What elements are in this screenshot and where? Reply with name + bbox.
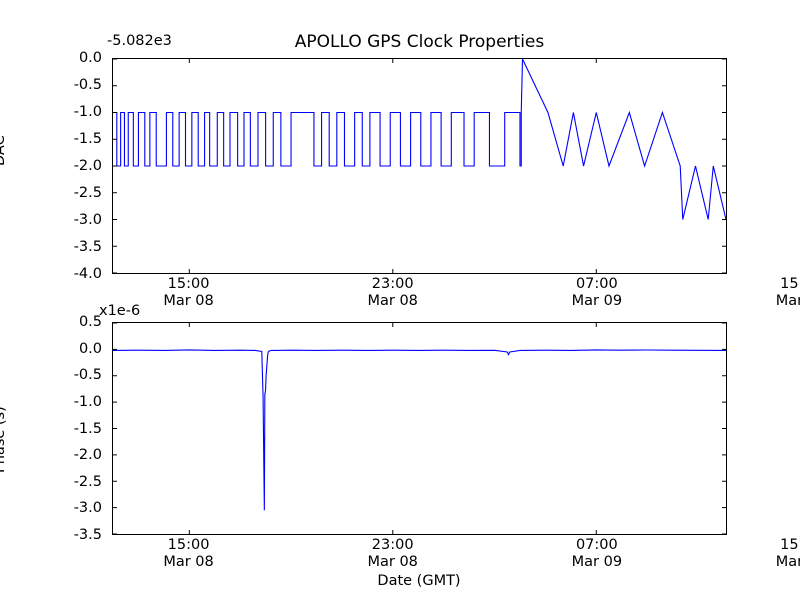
x-tick-time: 07:00 <box>572 276 622 293</box>
figure-canvas: APOLLO GPS Clock Properties -5.082e3 x1e… <box>0 0 800 600</box>
y-tick-label: 0.5 <box>79 314 108 330</box>
x-tick-time: 15:00 <box>163 537 213 554</box>
x-tick-date: Mar 09 <box>572 293 622 310</box>
y-tick-label: -2.0 <box>74 447 108 463</box>
dac-y-tick-labels: 0.0-0.5-1.0-1.5-2.0-2.5-3.0-3.5-4.0 <box>0 58 108 274</box>
x-tick-time: 15:00 <box>163 276 213 293</box>
x-tick-time: 15:00 <box>776 537 800 554</box>
x-tick-date: Mar 08 <box>367 554 417 571</box>
x-tick-date: Mar 09 <box>776 554 800 571</box>
x-axis-label: Date (GMT) <box>377 573 460 589</box>
y-tick-label: -1.0 <box>74 104 108 120</box>
dac-plot-area[interactable] <box>112 58 727 274</box>
y-tick-label: 0.0 <box>79 341 108 357</box>
chart-title: APOLLO GPS Clock Properties <box>112 32 727 52</box>
y-tick-label: -4.0 <box>74 266 108 282</box>
y-tick-label: -3.0 <box>74 500 108 516</box>
dac-y-offset-label: -5.082e3 <box>107 33 172 49</box>
y-tick-label: -3.5 <box>74 239 108 255</box>
y-tick-label: -1.5 <box>74 131 108 147</box>
y-tick-label: 0.0 <box>79 50 108 66</box>
x-tick-time: 07:00 <box>572 537 622 554</box>
x-tick-date: Mar 08 <box>163 554 213 571</box>
dac-series-line <box>113 59 726 273</box>
y-tick-label: -1.5 <box>74 421 108 437</box>
x-tick-label: 15:00Mar 08 <box>163 276 213 310</box>
x-tick-date: Mar 09 <box>572 554 622 571</box>
x-tick-label: 23:00Mar 08 <box>367 276 417 310</box>
y-tick-label: -2.5 <box>74 185 108 201</box>
x-tick-label: 07:00Mar 09 <box>572 537 622 571</box>
x-tick-label: 15:00Mar 09 <box>776 537 800 571</box>
x-tick-date: Mar 08 <box>163 293 213 310</box>
y-tick-label: -1.0 <box>74 394 108 410</box>
x-tick-label: 23:00Mar 08 <box>367 537 417 571</box>
x-tick-label: 15:00Mar 09 <box>776 276 800 310</box>
y-tick-label: -3.5 <box>74 527 108 543</box>
x-tick-label: 07:00Mar 09 <box>572 276 622 310</box>
x-tick-time: 23:00 <box>367 276 417 293</box>
x-tick-time: 15:00 <box>776 276 800 293</box>
y-tick-label: -3.0 <box>74 212 108 228</box>
phase-series-line <box>113 323 726 534</box>
x-tick-date: Mar 09 <box>776 293 800 310</box>
x-tick-label: 15:00Mar 08 <box>163 537 213 571</box>
y-tick-label: -2.5 <box>74 474 108 490</box>
y-tick-label: -0.5 <box>74 367 108 383</box>
x-tick-time: 23:00 <box>367 537 417 554</box>
phase-plot-area[interactable] <box>112 322 727 535</box>
y-tick-label: -2.0 <box>74 158 108 174</box>
y-tick-label: -0.5 <box>74 77 108 93</box>
phase-y-tick-labels: 0.50.0-0.5-1.0-1.5-2.0-2.5-3.0-3.5 <box>0 322 108 535</box>
x-tick-date: Mar 08 <box>367 293 417 310</box>
